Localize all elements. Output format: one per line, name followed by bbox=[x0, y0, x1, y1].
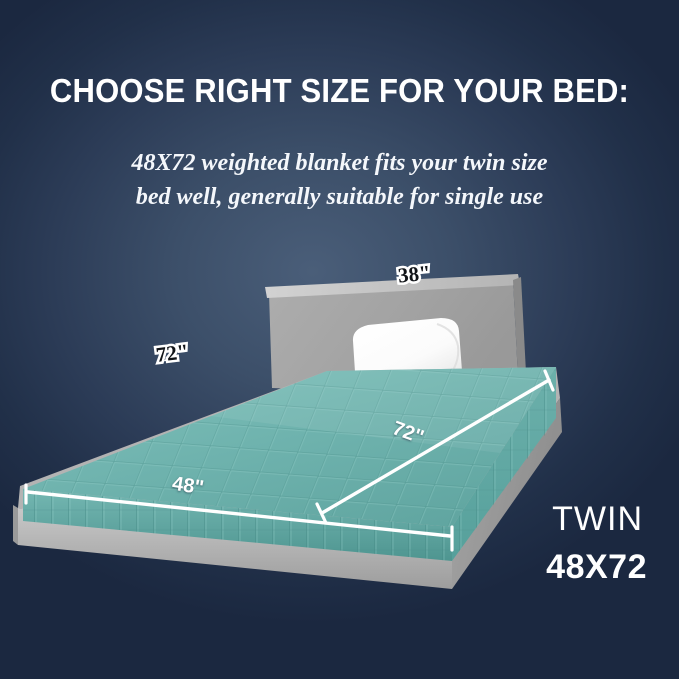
size-name-label: TWIN bbox=[552, 500, 643, 539]
size-dimensions-label: 48X72 bbox=[546, 548, 647, 587]
promo-graphic: CHOOSE RIGHT SIZE FOR YOUR BED: 48X72 we… bbox=[0, 0, 679, 679]
